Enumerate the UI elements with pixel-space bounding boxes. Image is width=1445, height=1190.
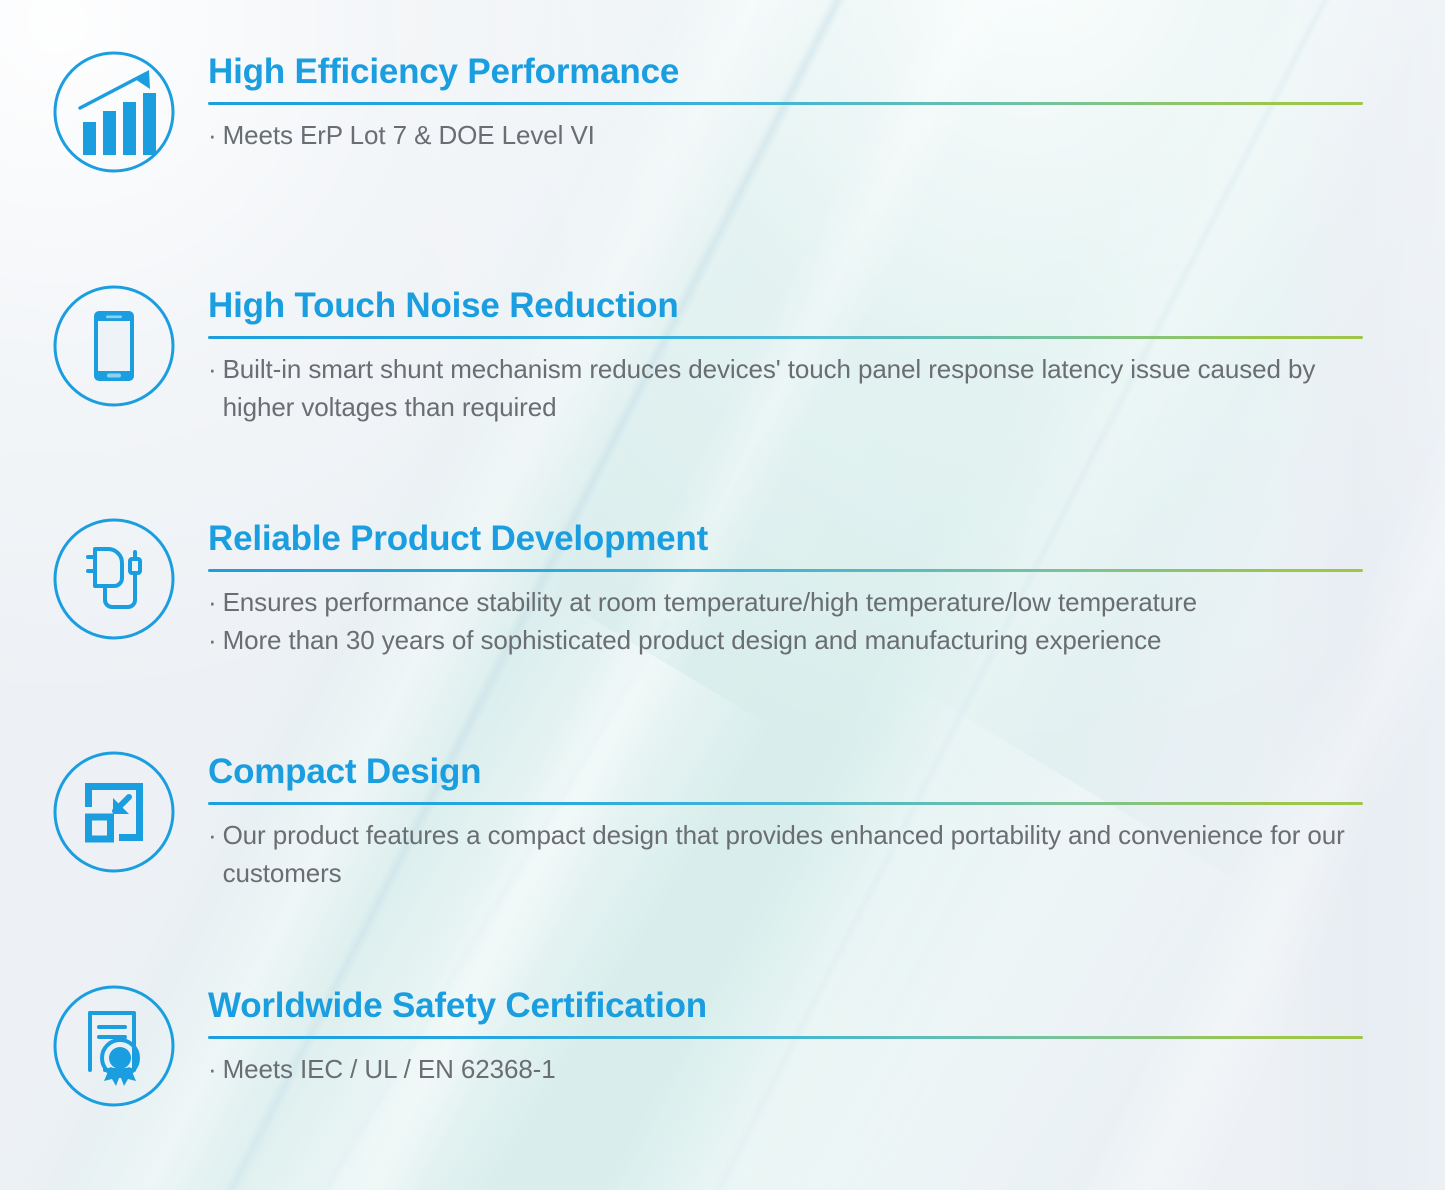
feature-highlights-page: High Efficiency Performance · Meets ErP …: [0, 0, 1445, 1190]
feature-divider: [208, 102, 1363, 105]
bullet-marker: ·: [208, 817, 217, 893]
feature-bullets: · Meets IEC / UL / EN 62368-1: [208, 1051, 1393, 1089]
feature-item-compact-design: Compact Design · Our product features a …: [50, 748, 1393, 893]
bullet-text: Meets IEC / UL / EN 62368-1: [223, 1051, 1393, 1089]
feature-body: Compact Design · Our product features a …: [208, 748, 1393, 893]
bullet-text: Ensures performance stability at room te…: [223, 584, 1393, 622]
bullet-marker: ·: [208, 351, 217, 427]
feature-bullet: · Ensures performance stability at room …: [208, 584, 1393, 622]
feature-bullet: · Built-in smart shunt mechanism reduces…: [208, 351, 1393, 427]
feature-title: High Efficiency Performance: [208, 54, 1393, 91]
feature-body: High Efficiency Performance · Meets ErP …: [208, 48, 1393, 155]
feature-divider: [208, 336, 1363, 339]
feature-divider: [208, 802, 1363, 805]
bullet-marker: ·: [208, 1051, 217, 1089]
feature-item-worldwide-safety-certification: Worldwide Safety Certification · Meets I…: [50, 982, 1393, 1110]
feature-item-high-touch-noise-reduction: High Touch Noise Reduction · Built-in sm…: [50, 282, 1393, 427]
feature-bullet: · Meets ErP Lot 7 & DOE Level VI: [208, 117, 1393, 155]
bullet-text: More than 30 years of sophisticated prod…: [223, 622, 1393, 660]
smartphone-icon: [50, 282, 178, 410]
feature-body: Reliable Product Development · Ensures p…: [208, 515, 1393, 660]
feature-bullets: · Our product features a compact design …: [208, 817, 1393, 893]
feature-title: Worldwide Safety Certification: [208, 988, 1393, 1025]
feature-title: High Touch Noise Reduction: [208, 288, 1393, 325]
bar-chart-growth-icon: [50, 48, 178, 176]
feature-bullets: · Built-in smart shunt mechanism reduces…: [208, 351, 1393, 427]
feature-title: Compact Design: [208, 754, 1393, 791]
feature-title: Reliable Product Development: [208, 521, 1393, 558]
feature-bullets: · Ensures performance stability at room …: [208, 584, 1393, 660]
bullet-text: Meets ErP Lot 7 & DOE Level VI: [223, 117, 1393, 155]
bullet-text: Built-in smart shunt mechanism reduces d…: [223, 351, 1393, 427]
feature-bullet: · More than 30 years of sophisticated pr…: [208, 622, 1393, 660]
bullet-text: Our product features a compact design th…: [223, 817, 1393, 893]
feature-bullets: · Meets ErP Lot 7 & DOE Level VI: [208, 117, 1393, 155]
power-adapter-icon: [50, 515, 178, 643]
feature-bullet: · Meets IEC / UL / EN 62368-1: [208, 1051, 1393, 1089]
bullet-marker: ·: [208, 622, 217, 660]
features-list: High Efficiency Performance · Meets ErP …: [0, 0, 1445, 1190]
feature-item-high-efficiency-performance: High Efficiency Performance · Meets ErP …: [50, 48, 1393, 176]
bullet-marker: ·: [208, 117, 217, 155]
bullet-marker: ·: [208, 584, 217, 622]
compact-resize-icon: [50, 748, 178, 876]
feature-item-reliable-product-development: Reliable Product Development · Ensures p…: [50, 515, 1393, 660]
feature-divider: [208, 569, 1363, 572]
feature-body: High Touch Noise Reduction · Built-in sm…: [208, 282, 1393, 427]
feature-bullet: · Our product features a compact design …: [208, 817, 1393, 893]
certificate-award-icon: [50, 982, 178, 1110]
feature-divider: [208, 1036, 1363, 1039]
feature-body: Worldwide Safety Certification · Meets I…: [208, 982, 1393, 1089]
